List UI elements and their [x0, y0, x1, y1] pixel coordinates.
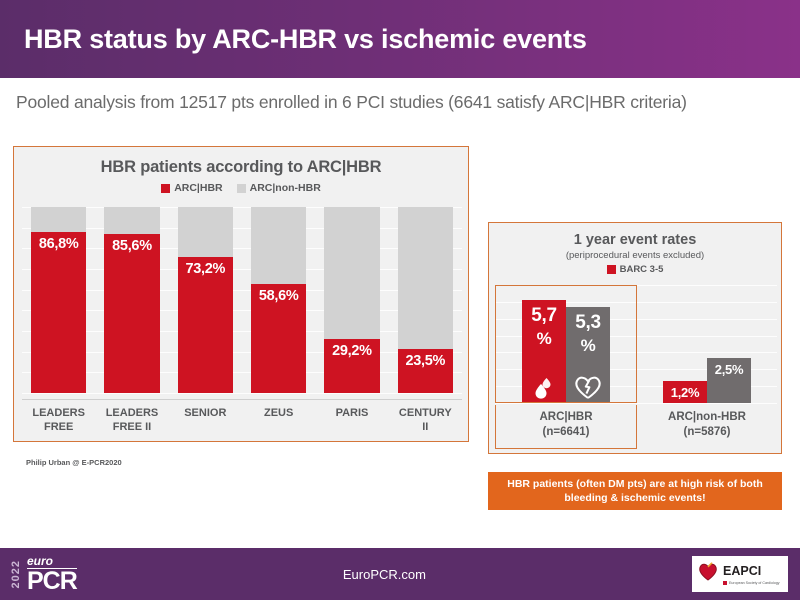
- legend-label-barc: BARC 3-5: [620, 264, 664, 275]
- bar-segment-arc-hbr: 85,6%: [104, 234, 159, 393]
- stacked-bar[interactable]: 58,6%: [251, 207, 306, 393]
- eapci-subtitle: European Society of Cardiology: [729, 582, 780, 586]
- footer-year: 2022: [10, 560, 22, 588]
- bar-segment-arc-hbr: 23,5%: [398, 349, 453, 393]
- eapci-logo: EAPCI European Society of Cardiology: [692, 556, 788, 592]
- legend-swatch-arc-hbr: [161, 184, 170, 193]
- page-title: HBR status by ARC-HBR vs ischemic events: [0, 24, 587, 55]
- bar-group: 1,2%2,5%: [637, 285, 777, 403]
- legend-item-arc-hbr: ARC|HBR: [161, 182, 222, 194]
- bar-group: 5,7%5,3%: [495, 285, 637, 403]
- bar-segment-arc-hbr: 73,2%: [178, 257, 233, 393]
- right-chart-subtitle: (periprocedural events excluded): [489, 250, 781, 261]
- stacked-bar[interactable]: 29,2%: [324, 207, 379, 393]
- gridline: [22, 393, 462, 394]
- bar-segment-arc-hbr: 86,8%: [31, 232, 86, 393]
- footer-website[interactable]: EuroPCR.com: [77, 567, 692, 582]
- bar-value-label: 5,7%: [522, 306, 566, 348]
- bar-value-label: 58,6%: [251, 288, 306, 304]
- x-axis-label: ARC|HBR(n=6641): [495, 405, 637, 449]
- x-axis-label: ARC|non-HBR(n=5876): [637, 405, 777, 449]
- attribution-text: Philip Urban @ E-PCR2020: [26, 458, 122, 467]
- left-chart-x-axis: LEADERSFREELEADERSFREE IISENIORZEUSPARIS…: [22, 399, 462, 439]
- bar-segment-arc-hbr: 58,6%: [251, 284, 306, 393]
- eapci-dot-icon: [723, 581, 727, 585]
- x-axis-label: SENIOR: [169, 400, 242, 439]
- stacked-bar[interactable]: 23,5%: [398, 207, 453, 393]
- right-chart-title: 1 year event rates: [489, 223, 781, 248]
- bar-value-label: 5,3%: [566, 313, 610, 355]
- right-chart-bars: 5,7%5,3%1,2%2,5%: [495, 285, 777, 403]
- left-chart-plot: 86,8%85,6%73,2%58,6%29,2%23,5%: [22, 207, 462, 393]
- bar[interactable]: 1,2%: [663, 381, 707, 403]
- bar[interactable]: 5,7%: [522, 300, 566, 402]
- bar-value-label: 86,8%: [31, 236, 86, 252]
- legend-label-arc-non-hbr: ARC|non-HBR: [250, 182, 321, 194]
- legend-label-arc-hbr: ARC|HBR: [174, 182, 222, 194]
- legend-item-barc: BARC 3-5: [607, 264, 664, 275]
- bar[interactable]: 5,3%: [566, 307, 610, 402]
- bar-value-label: 73,2%: [178, 261, 233, 277]
- slide-subtitle: Pooled analysis from 12517 pts enrolled …: [16, 92, 796, 113]
- bar-slot: 23,5%: [389, 207, 462, 393]
- x-axis-label: PARIS: [315, 400, 388, 439]
- right-chart-legend: BARC 3-5: [489, 264, 781, 275]
- legend-swatch-barc: [607, 265, 616, 274]
- stacked-bar[interactable]: 73,2%: [178, 207, 233, 393]
- bar-value-label: 23,5%: [398, 353, 453, 369]
- right-chart-panel: 1 year event rates (periprocedural event…: [488, 222, 782, 454]
- slide-header: HBR status by ARC-HBR vs ischemic events: [0, 0, 800, 78]
- x-axis-label: LEADERSFREE: [22, 400, 95, 439]
- heart-icon: [698, 562, 718, 586]
- x-axis-label: CENTURYII: [389, 400, 462, 439]
- bar-segment-arc-hbr: 29,2%: [324, 339, 379, 393]
- left-chart-title: HBR patients according to ARC|HBR: [14, 147, 468, 177]
- left-chart-bars: 86,8%85,6%73,2%58,6%29,2%23,5%: [22, 207, 462, 393]
- blood-drop-icon: [522, 374, 566, 400]
- slide-footer: 2022 euro PCR EuroPCR.com EAPCI European…: [0, 548, 800, 600]
- bar-slot: 58,6%: [242, 207, 315, 393]
- conclusion-banner: HBR patients (often DM pts) are at high …: [488, 472, 782, 510]
- stacked-bar[interactable]: 85,6%: [104, 207, 159, 393]
- gridline: [495, 403, 777, 404]
- bar-slot: 73,2%: [169, 207, 242, 393]
- bar[interactable]: 2,5%: [707, 358, 751, 403]
- bar-value-label: 1,2%: [663, 385, 707, 400]
- bar-unit-label: %: [566, 337, 610, 355]
- bar-slot: 85,6%: [95, 207, 168, 393]
- left-chart-legend: ARC|HBR ARC|non-HBR: [14, 182, 468, 194]
- slide: HBR status by ARC-HBR vs ischemic events…: [0, 0, 800, 600]
- x-axis-label: ZEUS: [242, 400, 315, 439]
- eapci-text: EAPCI European Society of Cardiology: [723, 563, 780, 586]
- right-chart-x-axis: ARC|HBR(n=6641)ARC|non-HBR(n=5876): [495, 405, 777, 449]
- x-axis-label: LEADERSFREE II: [95, 400, 168, 439]
- bar-value-label: 85,6%: [104, 238, 159, 254]
- right-chart-plot: 5,7%5,3%1,2%2,5%: [495, 285, 777, 403]
- legend-item-arc-non-hbr: ARC|non-HBR: [237, 182, 321, 194]
- stacked-bar[interactable]: 86,8%: [31, 207, 86, 393]
- broken-heart-icon: [566, 374, 610, 400]
- europcr-logo-pcr: PCR: [27, 569, 77, 594]
- bar-unit-label: %: [522, 330, 566, 348]
- left-chart-panel: HBR patients according to ARC|HBR ARC|HB…: [13, 146, 469, 442]
- eapci-subtitle-row: European Society of Cardiology: [723, 581, 780, 585]
- bar-value-label: 2,5%: [707, 362, 751, 377]
- eapci-name: EAPCI: [723, 564, 761, 578]
- europcr-logo: euro PCR: [27, 555, 77, 594]
- legend-swatch-arc-non-hbr: [237, 184, 246, 193]
- bar-slot: 86,8%: [22, 207, 95, 393]
- bar-value-label: 29,2%: [324, 343, 379, 359]
- bar-slot: 29,2%: [315, 207, 388, 393]
